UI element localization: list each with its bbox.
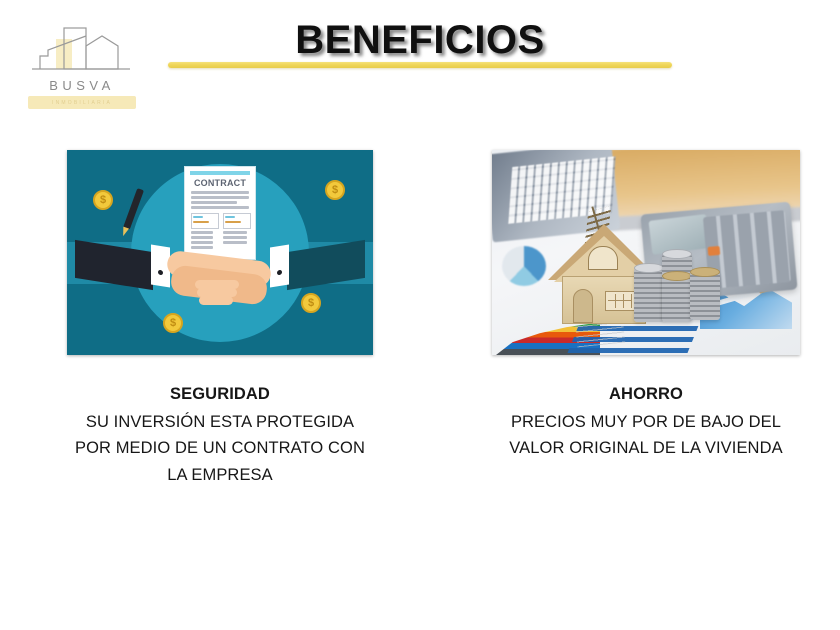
caption-heading: SEGURIDAD <box>67 381 373 408</box>
coin-top <box>634 263 664 273</box>
title-underline-rule <box>168 62 672 68</box>
dollar-coin-icon: $ <box>163 313 183 333</box>
seguridad-image: CONTRACT <box>67 150 373 355</box>
house-door <box>573 289 593 323</box>
coin-top <box>662 271 692 281</box>
dollar-coin-icon: $ <box>93 190 113 210</box>
caption-body: SU INVERSIÓN ESTA PROTEGIDA POR MEDIO DE… <box>67 409 373 489</box>
handshake-contract-illustration: CONTRACT <box>67 150 373 355</box>
slide-root: { "slide": { "title": "BENEFICIOS", "acc… <box>0 0 840 630</box>
handshake-hands <box>161 254 279 314</box>
seguridad-caption: SEGURIDAD SU INVERSIÓN ESTA PROTEGIDA PO… <box>67 381 373 489</box>
dollar-coin-icon: $ <box>301 293 321 313</box>
contract-header-bar <box>190 171 250 175</box>
contract-title-text: CONTRACT <box>185 178 255 188</box>
coin-stack <box>690 272 720 320</box>
pie-chart-graphic <box>502 246 546 286</box>
page-title: BENEFICIOS <box>0 18 840 63</box>
benefit-column-ahorro: AHORRO PRECIOS MUY POR DE BAJO DEL VALOR… <box>492 150 800 462</box>
contract-document-icon: CONTRACT <box>184 166 256 260</box>
ahorro-image <box>492 150 800 355</box>
logo-subtitle-highlight: INMOBILIARIA <box>28 96 136 109</box>
caption-heading: AHORRO <box>492 381 800 408</box>
coin-stack <box>662 276 692 322</box>
logo-subtitle: INMOBILIARIA <box>52 100 112 106</box>
coin-stack <box>634 268 664 322</box>
ahorro-caption: AHORRO PRECIOS MUY POR DE BAJO DEL VALOR… <box>492 381 800 462</box>
coin-top <box>662 249 692 259</box>
calculator-accent-key <box>708 246 721 256</box>
caption-body: PRECIOS MUY POR DE BAJO DEL VALOR ORIGIN… <box>492 409 800 462</box>
house-attic-window <box>588 246 618 270</box>
house-window <box>605 291 635 311</box>
dollar-coin-icon: $ <box>325 180 345 200</box>
coin-top <box>690 267 720 277</box>
logo-wordmark: BUSVA <box>22 78 142 93</box>
benefit-column-seguridad: CONTRACT <box>67 150 373 489</box>
house-coins-calculator-photo <box>492 150 800 355</box>
